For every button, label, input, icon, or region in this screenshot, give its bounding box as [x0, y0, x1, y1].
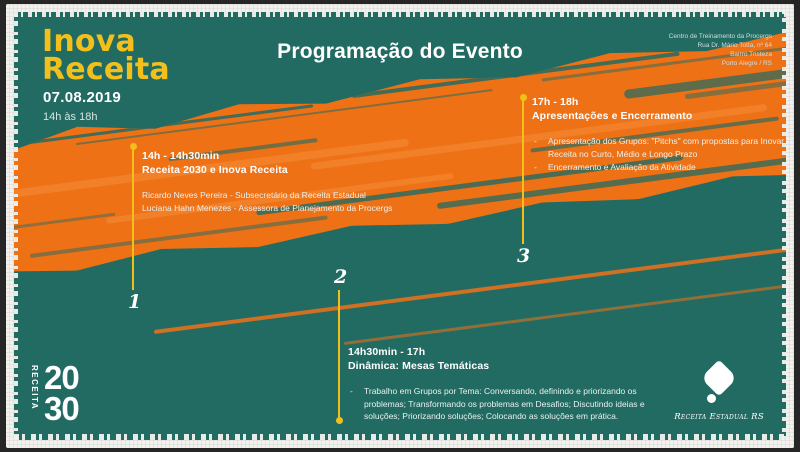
- circle-dot-icon: [707, 394, 716, 403]
- receita-2030-logo: RECEITA 20 30: [30, 362, 79, 424]
- receita-2030-vertical-label: RECEITA: [30, 365, 39, 410]
- agenda-2-title: Dinâmica: Mesas Temáticas: [348, 359, 648, 373]
- list-item: - Apresentação dos Grupos: "Pitchs" com …: [532, 135, 786, 160]
- marker-3-line: [522, 98, 524, 244]
- receita-estadual-rs-logo: Receita Estadual RS: [674, 363, 764, 422]
- agenda-1-time: 14h - 14h30min: [142, 149, 442, 163]
- bullet-dash: -: [534, 161, 537, 174]
- agenda-2-bullets: - Trabalho em Grupos por Tema: Conversan…: [348, 385, 648, 423]
- agenda-3-title: Apresentações e Encerramento: [532, 109, 786, 123]
- agenda-block-2: 14h30min - 17h Dinâmica: Mesas Temáticas…: [348, 345, 648, 424]
- marker-2-number: 2: [334, 268, 347, 287]
- agenda-3-time: 17h - 18h: [532, 95, 786, 109]
- marker-3-number: 3: [517, 247, 530, 266]
- agenda-3-bullets: - Apresentação dos Grupos: "Pitchs" com …: [532, 135, 786, 174]
- list-item-text: Trabalho em Grupos por Tema: Conversando…: [364, 386, 645, 421]
- agenda-1-speakers: Ricardo Neves Pereira - Subsecretário da…: [142, 189, 442, 214]
- marker-2-dot: [336, 417, 343, 424]
- bullet-dash: -: [350, 385, 353, 398]
- receita-estadual-rs-label: Receita Estadual RS: [674, 412, 764, 422]
- marker-2-line: [338, 290, 340, 420]
- list-item: - Encerramento e Avaliação da Atividade: [532, 161, 786, 174]
- list-item-text: Apresentação dos Grupos: "Pitchs" com pr…: [548, 136, 786, 159]
- receita-2030-numbers: 20 30: [44, 362, 79, 424]
- diamond-shape-icon: [701, 360, 738, 397]
- event-program-poster: Inova Receita 07.08.2019 14h às 18h Prog…: [0, 0, 800, 452]
- marker-1-line: [132, 147, 134, 290]
- list-item: - Trabalho em Grupos por Tema: Conversan…: [348, 385, 648, 423]
- diamond-mark-icon: [695, 363, 743, 409]
- event-date: 07.08.2019: [43, 89, 121, 106]
- agenda-block-3: 17h - 18h Apresentações e Encerramento -…: [532, 95, 786, 175]
- marker-1-number: 1: [128, 293, 141, 312]
- agenda-1-title: Receita 2030 e Inova Receita: [142, 163, 442, 177]
- list-item-text: Encerramento e Avaliação da Atividade: [548, 162, 696, 172]
- agenda-block-1: 14h - 14h30min Receita 2030 e Inova Rece…: [142, 149, 442, 214]
- agenda-2-time: 14h30min - 17h: [348, 345, 648, 359]
- event-time-range: 14h às 18h: [43, 111, 97, 123]
- poster-canvas: Inova Receita 07.08.2019 14h às 18h Prog…: [14, 12, 786, 440]
- bullet-dash: -: [534, 135, 537, 148]
- venue-address: Centro de Treinamento da Procergs Rua Dr…: [669, 32, 772, 68]
